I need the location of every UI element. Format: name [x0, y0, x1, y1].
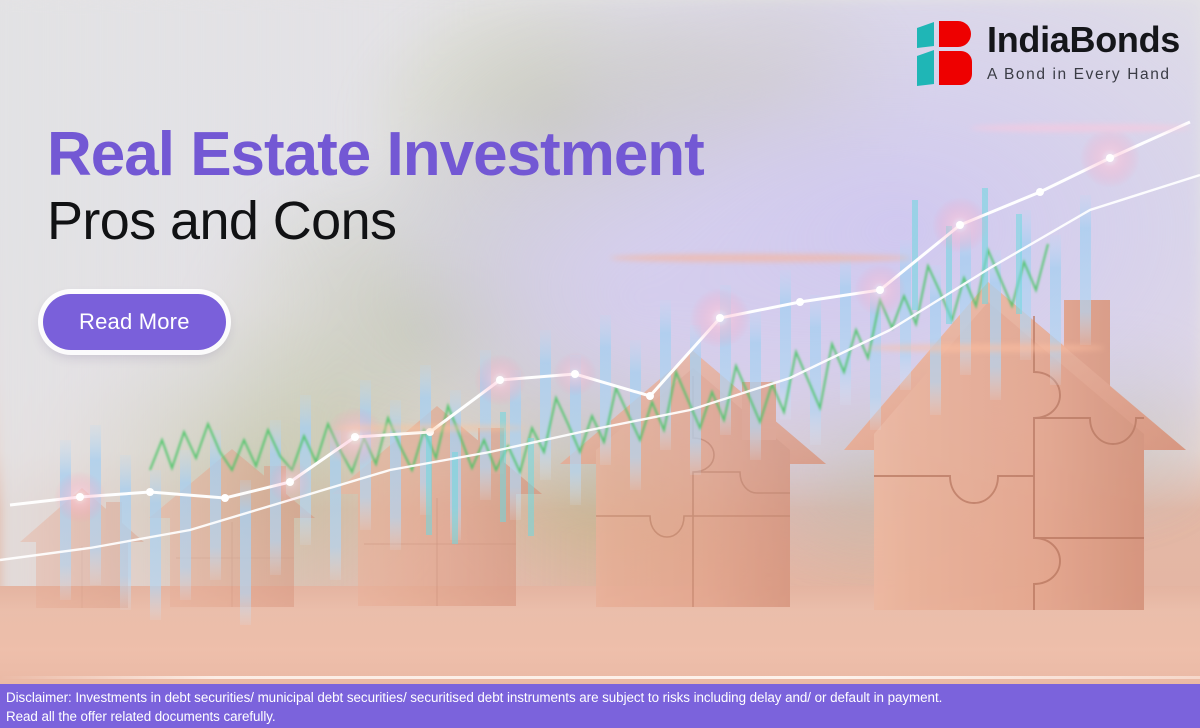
puzzle-house-3: [328, 402, 546, 610]
brand-logo[interactable]: IndiaBonds A Bond in Every Hand: [915, 18, 1180, 88]
hero-banner: IndiaBonds A Bond in Every Hand Real Est…: [0, 0, 1200, 728]
indiabonds-ib-logo-icon: [915, 18, 973, 88]
puzzle-house-4: [554, 346, 832, 612]
brand-name: IndiaBonds: [987, 22, 1180, 58]
puzzle-house-group: [0, 0, 1200, 728]
puzzle-house-1: [18, 486, 146, 610]
puzzle-house-2: [146, 446, 318, 610]
disclaimer-bar: Disclaimer: Investments in debt securiti…: [0, 684, 1200, 728]
page-title: Real Estate Investment: [47, 122, 704, 187]
disclaimer-line-1: Disclaimer: Investments in debt securiti…: [6, 688, 1194, 707]
brand-tagline: A Bond in Every Hand: [987, 67, 1180, 83]
puzzle-house-5: [838, 276, 1194, 616]
read-more-button[interactable]: Read More: [43, 294, 226, 350]
page-subtitle: Pros and Cons: [47, 193, 704, 250]
hero-headline: Real Estate Investment Pros and Cons: [47, 122, 704, 250]
brand-logo-text: IndiaBonds A Bond in Every Hand: [987, 18, 1180, 83]
table-edge-highlight: [0, 676, 1200, 679]
disclaimer-line-2: Read all the offer related documents car…: [6, 707, 1194, 726]
